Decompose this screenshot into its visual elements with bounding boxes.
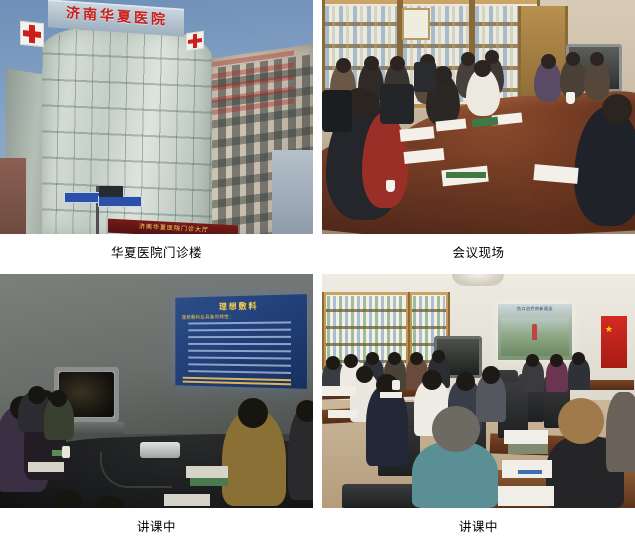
attendee-head — [366, 352, 379, 365]
brick-building-left — [0, 158, 26, 234]
street-sign-right — [98, 196, 142, 207]
attendee-head — [28, 386, 46, 404]
document-on-table — [502, 460, 552, 478]
attendee-head-gray-hair — [432, 406, 480, 452]
projection-screen: 理想敷料 理想敷料应具备的特性： — [175, 294, 307, 389]
photo-cell-lecture-wide: 伤口治疗的新观念 ★ — [322, 274, 635, 547]
red-cross-icon — [20, 21, 44, 48]
attendee-head — [590, 52, 604, 66]
chair — [380, 84, 414, 124]
photo-cell-hospital-building: 济南华夏医院 济南华夏医院门诊大厅 华夏医院门诊楼 — [0, 0, 313, 274]
flag-star-icon: ★ — [605, 326, 613, 335]
caption-lecture-projection: 讲课中 — [0, 508, 313, 547]
photo-cell-meeting-room: 会议现场 — [322, 0, 635, 274]
brochure — [508, 444, 548, 454]
attendee-head-dyed-hair — [558, 398, 604, 444]
brochure-green — [446, 172, 486, 178]
document-on-table — [504, 430, 548, 444]
photo-lecture-projection[interactable]: 理想敷料 理想敷料应具备的特性： — [0, 274, 313, 508]
attendee-head — [410, 352, 423, 365]
photo-lecture-wide[interactable]: 伤口治疗的新观念 ★ — [322, 274, 635, 508]
photo-meeting-room[interactable] — [322, 0, 635, 234]
caption-meeting-room: 会议现场 — [322, 234, 635, 274]
document-on-table — [328, 410, 358, 418]
attendee-head — [572, 352, 585, 365]
paper-cup — [386, 180, 395, 192]
brochure-green — [190, 478, 228, 486]
caption-hospital-building: 华夏医院门诊楼 — [0, 234, 313, 274]
attendee-head — [50, 390, 67, 407]
cables — [100, 452, 172, 488]
paper-cup — [62, 446, 70, 458]
attendee-head — [482, 366, 500, 384]
attendee-head — [422, 370, 442, 390]
document-on-table — [498, 486, 554, 506]
attendee-head — [390, 56, 405, 71]
ceiling-light — [452, 274, 504, 286]
slide-title-text: 伤口治疗的新观念 — [498, 306, 572, 312]
attendee-head — [461, 52, 475, 66]
attendee-head — [356, 92, 380, 116]
attendee-head — [456, 372, 475, 391]
document-on-table — [164, 494, 210, 506]
attendee-head — [566, 52, 580, 66]
photo-grid: 济南华夏医院 济南华夏医院门诊大厅 华夏医院门诊楼 — [0, 0, 635, 547]
attendee-head — [602, 94, 632, 124]
attendee-foreground — [362, 112, 408, 208]
paper-cup — [392, 380, 400, 390]
attendee-head — [432, 350, 445, 363]
attendee-head — [541, 54, 556, 69]
red-cross-icon-secondary — [186, 31, 204, 52]
slide-title-text: 理想敷料 — [175, 299, 307, 313]
attendee-head — [356, 366, 373, 383]
attendee-head — [336, 58, 351, 73]
street-sign-dark — [99, 186, 123, 197]
attendee-head — [434, 66, 452, 84]
chair — [322, 90, 352, 132]
wall-picture-frame — [402, 8, 430, 40]
document-on-table — [186, 466, 228, 478]
national-flag — [601, 316, 627, 368]
photo-hospital-building[interactable]: 济南华夏医院 济南华夏医院门诊大厅 — [0, 0, 313, 234]
slide-photo-person — [532, 324, 537, 340]
attendee-head — [526, 354, 539, 367]
attendee-head — [296, 400, 313, 422]
paper-cup — [566, 92, 575, 104]
attendee-head — [364, 56, 379, 71]
background-building — [272, 150, 313, 234]
attendee-foreground — [606, 392, 635, 472]
slide-subtitle-text: 理想敷料应具备的特性： — [182, 314, 234, 321]
attendee-head — [344, 354, 358, 368]
attendee-head — [238, 398, 268, 428]
document-on-table — [322, 386, 356, 396]
attendee-head — [474, 60, 491, 77]
attendee-head — [550, 354, 563, 367]
photo-cell-lecture-projection: 理想敷料 理想敷料应具备的特性： — [0, 274, 313, 547]
slide-bullet-lines — [188, 321, 291, 379]
attendee-head — [388, 352, 401, 365]
document-on-table — [28, 462, 64, 472]
projection-screen: 伤口治疗的新观念 — [498, 304, 572, 360]
pen — [518, 470, 542, 474]
attendee — [366, 386, 408, 466]
caption-lecture-wide: 讲课中 — [322, 508, 635, 547]
street-sign-left — [64, 192, 100, 203]
chair — [414, 62, 436, 92]
document-on-table — [380, 392, 402, 398]
attendee-head — [326, 356, 340, 370]
